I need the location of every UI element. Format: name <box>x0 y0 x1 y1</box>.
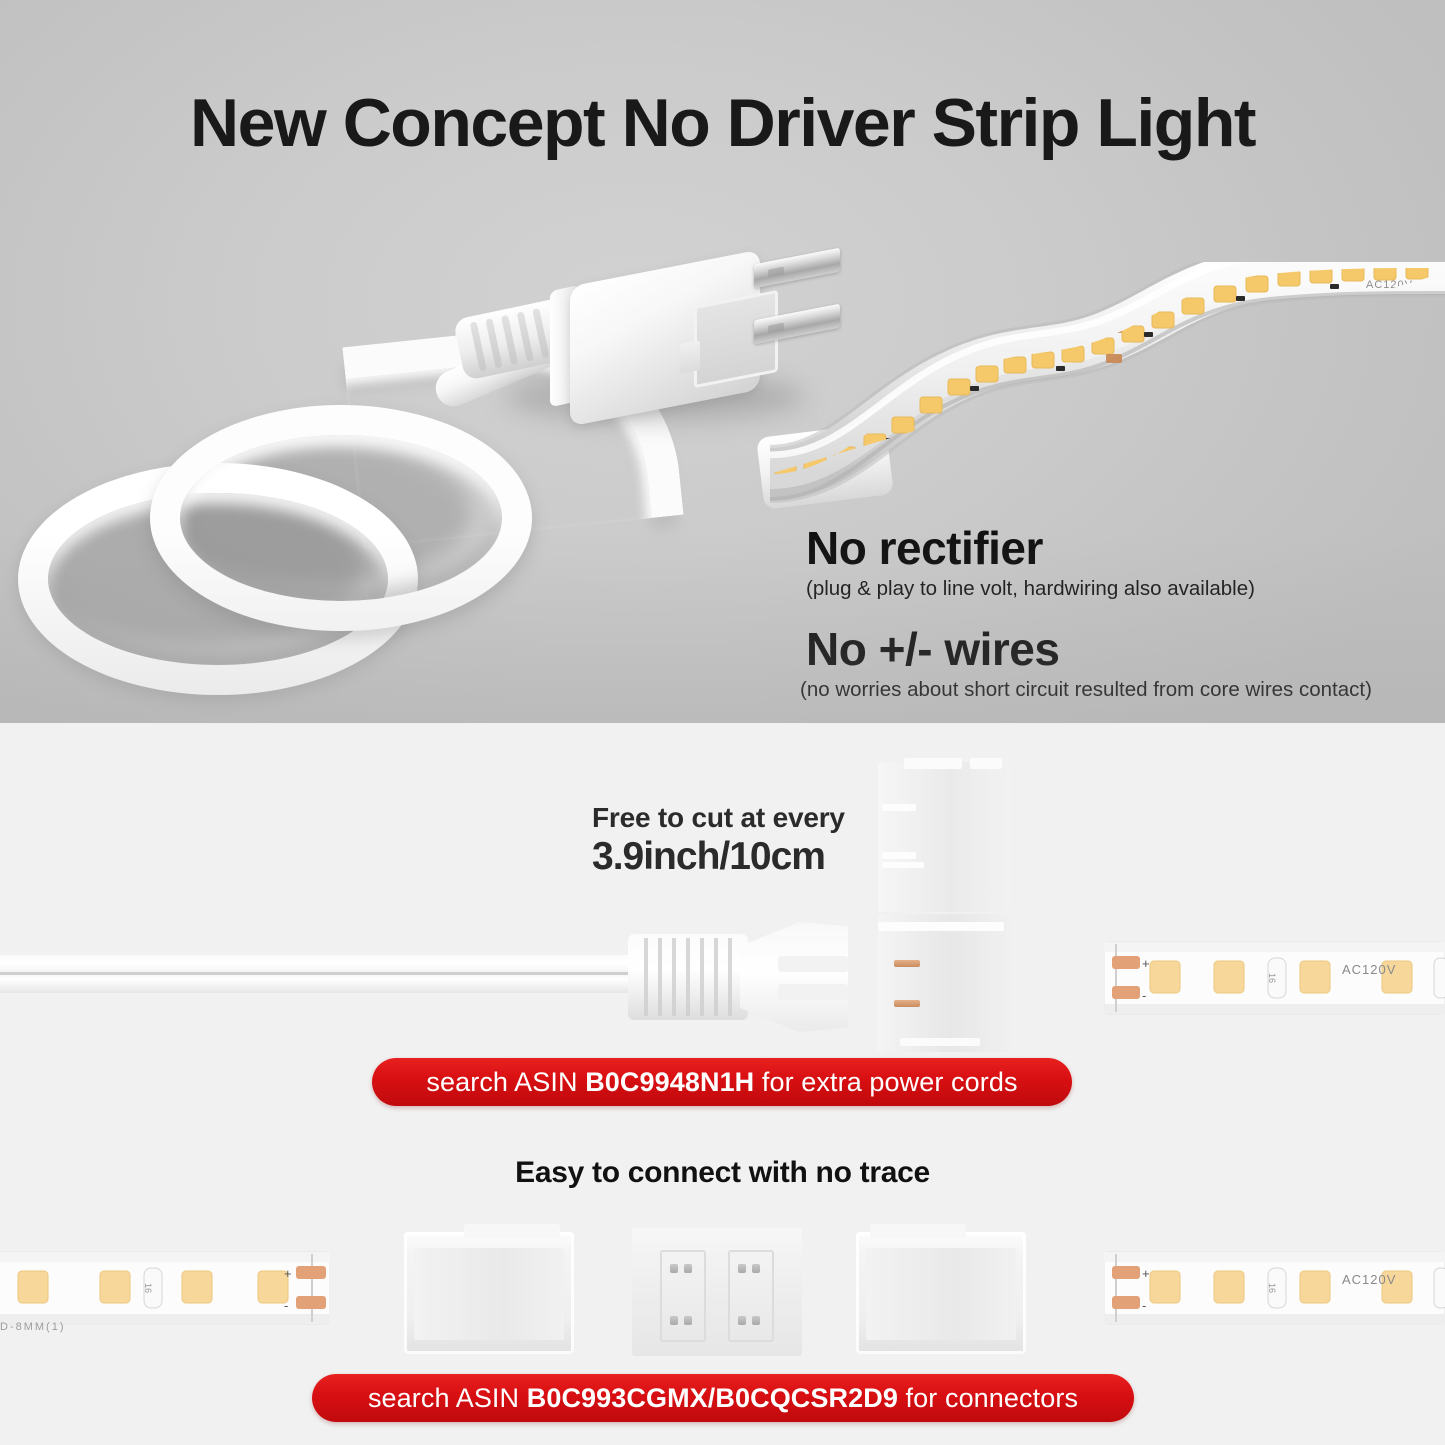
cut-interval-callout: Free to cut at every 3.9inch/10cm <box>592 802 892 879</box>
svg-text:AC120V: AC120V <box>1342 962 1396 977</box>
page-title: New Concept No Driver Strip Light <box>0 84 1445 162</box>
asin-badge-power-cords[interactable]: search ASIN B0C9948N1H for extra power c… <box>372 1058 1072 1106</box>
plug-window-tab <box>680 340 700 374</box>
clamp-inner <box>414 1248 564 1340</box>
connector-upper-half <box>878 762 1010 912</box>
feature-title: No rectifier <box>806 524 1426 573</box>
endcap-grip <box>628 934 748 1020</box>
badge-prefix: search ASIN <box>368 1383 527 1413</box>
product-marketing-image: New Concept No Driver Strip Light <box>0 0 1445 1445</box>
svg-text:+: + <box>1142 1266 1150 1281</box>
coupler-pin-slot <box>728 1250 774 1342</box>
badge-asin: B0C993CGMX/B0CQCSR2D9 <box>527 1383 898 1413</box>
svg-text:+: + <box>1142 956 1150 971</box>
cut-label-line2: 3.9inch/10cm <box>592 835 892 879</box>
feature-title: No +/- wires <box>806 625 1426 674</box>
power-cord <box>0 955 690 993</box>
hero-feature-list: No rectifier (plug & play to line volt, … <box>806 524 1426 703</box>
svg-text:+: + <box>284 1266 292 1281</box>
svg-text:16: 16 <box>143 1283 153 1293</box>
svg-text:-: - <box>1142 988 1146 1003</box>
svg-text:-: - <box>284 1298 288 1313</box>
endcap-blade <box>778 984 848 1000</box>
svg-text:D-8MM(1): D-8MM(1) <box>0 1321 66 1333</box>
badge-suffix: for extra power cords <box>754 1067 1017 1097</box>
badge-suffix: for connectors <box>898 1383 1078 1413</box>
badge-asin: B0C9948N1H <box>585 1067 754 1097</box>
svg-text:16: 16 <box>1267 1283 1277 1293</box>
connector-clamp-left <box>404 1232 574 1354</box>
connector-coupler-center <box>632 1228 802 1356</box>
feature-no-rectifier: No rectifier (plug & play to line volt, … <box>806 524 1426 601</box>
cord-end-connector <box>628 918 928 1036</box>
led-strip-segment-right: + - 16 AC120V <box>1104 928 1445 1028</box>
hero-panel: New Concept No Driver Strip Light <box>0 0 1445 723</box>
led-strip-segment-bottom-right: + - 16 AC120V <box>1104 1238 1445 1338</box>
connect-section-title: Easy to connect with no trace <box>0 1156 1445 1190</box>
led-strip-segment-left: 16 D-8MM(1) + - <box>0 1238 330 1338</box>
svg-text:-: - <box>1142 1298 1146 1313</box>
asin-badge-connectors[interactable]: search ASIN B0C993CGMX/B0CQCSR2D9 for co… <box>312 1374 1134 1422</box>
led-strip-icon: AC120V <box>770 262 1445 512</box>
feature-no-wires: No +/- wires (no worries about short cir… <box>806 625 1426 702</box>
svg-text:16: 16 <box>1267 973 1277 983</box>
clamp-lip <box>870 1224 966 1238</box>
cut-label-line1: Free to cut at every <box>592 802 892 834</box>
clamp-lip <box>464 1224 560 1238</box>
feature-subtitle: (no worries about short circuit resulted… <box>800 677 1426 703</box>
coupler-pin-slot <box>660 1250 706 1342</box>
feature-subtitle: (plug & play to line volt, hardwiring al… <box>806 576 1426 602</box>
connector-clamp-right <box>856 1232 1026 1354</box>
badge-prefix: search ASIN <box>426 1067 585 1097</box>
svg-text:AC120V: AC120V <box>1342 1272 1396 1287</box>
endcap-cone <box>740 922 848 1032</box>
endcap-blade <box>778 956 848 972</box>
clamp-inner <box>866 1248 1016 1340</box>
